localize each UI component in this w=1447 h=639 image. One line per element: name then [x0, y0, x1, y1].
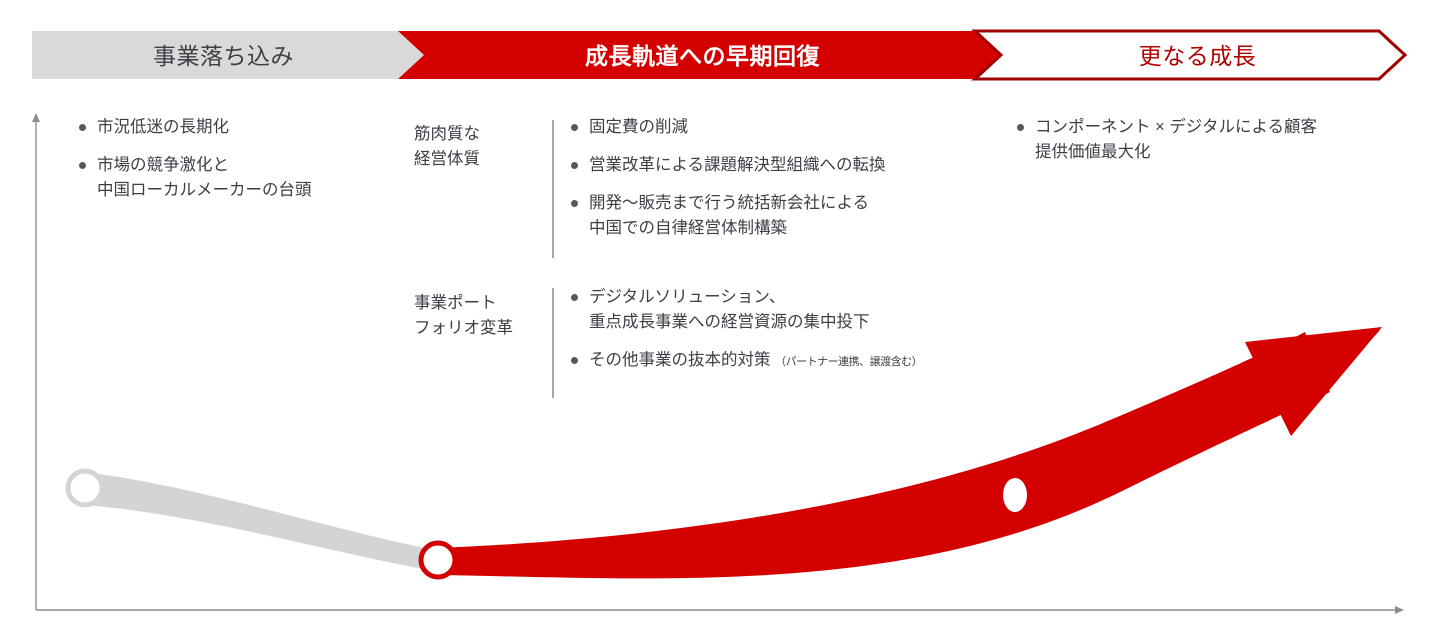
category-label-line2: フォリオ変革 — [414, 316, 539, 341]
category-label-line1: 事業ポート — [414, 291, 539, 316]
column-divider — [552, 288, 554, 398]
decline-bullet-list: 市況低迷の長期化 市場の競争激化と 中国ローカルメーカーの台頭 — [78, 115, 398, 216]
list-item: 開発～販売まで行う統括新会社による 中国での自律経営体制構築 — [570, 191, 990, 241]
bullet-text-line2: 重点成長事業への経営資源の集中投下 — [589, 310, 1010, 335]
list-item: コンポーネント × デジタルによる顧客 提供価値最大化 — [1016, 115, 1426, 165]
category-label-line1: 筋肉質な — [414, 122, 539, 147]
decline-start-marker — [68, 471, 102, 505]
category-label-line2: 経営体質 — [414, 147, 539, 172]
category-label-muscular-management: 筋肉質な 経営体質 — [414, 122, 539, 172]
growth-bullet-list: コンポーネント × デジタルによる顧客 提供価値最大化 — [1016, 115, 1426, 178]
bullet-text-line1: 営業改革による課題解決型組織への転換 — [589, 156, 886, 174]
bullet-text-line1: その他事業の抜本的対策 — [589, 351, 771, 369]
growth-midpoint-marker — [1003, 478, 1027, 512]
bullet-text-line1: 市況低迷の長期化 — [97, 118, 229, 136]
list-item: デジタルソリューション、 重点成長事業への経営資源の集中投下 — [570, 285, 1010, 335]
bullet-note: （パートナー連携、譲渡含む） — [775, 356, 922, 368]
recovery-bullet-list-muscular: 固定費の削減 営業改革による課題解決型組織への転換 開発～販売まで行う統括新会社… — [570, 115, 990, 254]
inflection-marker — [421, 543, 455, 577]
category-label-portfolio-reform: 事業ポート フォリオ変革 — [414, 291, 539, 341]
phase-banner: 事業落ち込み 成長軌道への早期回復 更なる成長 — [0, 0, 1447, 100]
phase-label-decline: 事業落ち込み — [32, 45, 415, 68]
bullet-text-line2: 提供価値最大化 — [1035, 140, 1426, 165]
growth-arrow-head — [1245, 327, 1382, 436]
bullet-text-line1: 市場の競争激化と — [97, 156, 229, 174]
list-item: 固定費の削減 — [570, 115, 990, 140]
bullet-text-line2: 中国ローカルメーカーの台頭 — [97, 178, 398, 203]
growth-arrow-head-fill — [1250, 330, 1380, 430]
decline-curve — [84, 472, 440, 572]
list-item: 市場の競争激化と 中国ローカルメーカーの台頭 — [78, 153, 398, 203]
slide-canvas: 事業落ち込み 成長軌道への早期回復 更なる成長 市況低迷の長期化 — [0, 0, 1447, 639]
list-item: 市況低迷の長期化 — [78, 115, 398, 140]
bullet-text-line1: デジタルソリューション、 — [589, 288, 785, 306]
list-item: その他事業の抜本的対策 （パートナー連携、譲渡含む） — [570, 348, 1010, 375]
bullet-text-line1: 固定費の削減 — [589, 118, 688, 136]
recovery-bullet-list-portfolio: デジタルソリューション、 重点成長事業への経営資源の集中投下 その他事業の抜本的… — [570, 285, 1010, 388]
bullet-text-line1: コンポーネント × デジタルによる顧客 — [1035, 118, 1317, 136]
phase-label-growth: 更なる成長 — [990, 45, 1405, 68]
bullet-text-line2: 中国での自律経営体制構築 — [589, 216, 990, 241]
column-divider — [552, 120, 554, 258]
bullet-text-line1: 開発～販売まで行う統括新会社による — [589, 194, 869, 212]
list-item: 営業改革による課題解決型組織への転換 — [570, 153, 990, 178]
phase-label-recovery: 成長軌道への早期回復 — [415, 45, 990, 68]
